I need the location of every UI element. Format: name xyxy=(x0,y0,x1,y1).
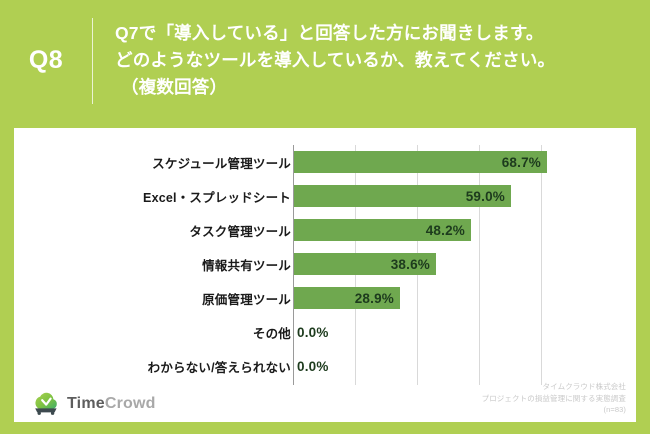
bar-value-4: 28.9% xyxy=(355,291,394,306)
bar-container: 0.0% xyxy=(294,355,329,377)
question-text: Q7で「導入している」と回答した方にお聞きします。 どのようなツールを導入してい… xyxy=(93,20,555,101)
bar-rows: スケジュール管理ツール 68.7% Excel・スプレッドシート 59.0% タ… xyxy=(14,128,636,422)
credit-company: タイムクラウド株式会社 xyxy=(482,381,626,393)
table-row: Excel・スプレッドシート 59.0% xyxy=(14,179,636,213)
bar-container: 28.9% xyxy=(294,287,400,309)
chart-card: スケジュール管理ツール 68.7% Excel・スプレッドシート 59.0% タ… xyxy=(14,128,636,422)
bar-value-6: 0.0% xyxy=(297,359,329,374)
logo-wordmark: TimeCrowd xyxy=(67,395,156,413)
table-row: 情報共有ツール 38.6% xyxy=(14,247,636,281)
logo-word-crowd: Crowd xyxy=(105,395,156,412)
bar-value-3: 38.6% xyxy=(391,257,430,272)
bar-container: 38.6% xyxy=(294,253,436,275)
bar-value-1: 59.0% xyxy=(466,189,505,204)
bar-container: 68.7% xyxy=(294,151,547,173)
credit-survey-name: プロジェクトの損益管理に関する実態調査 xyxy=(482,393,626,405)
category-label: わからない/答えられない xyxy=(148,357,291,376)
survey-credit: タイムクラウド株式会社 プロジェクトの損益管理に関する実態調査 (n=83) xyxy=(482,381,626,416)
category-label: 情報共有ツール xyxy=(202,255,291,274)
table-row: その他 0.0% xyxy=(14,315,636,349)
category-label: スケジュール管理ツール xyxy=(152,153,291,172)
category-label: タスク管理ツール xyxy=(189,221,291,240)
logo-word-time: Time xyxy=(67,395,105,412)
table-row: わからない/答えられない 0.0% xyxy=(14,349,636,383)
question-header: Q8 Q7で「導入している」と回答した方にお聞きします。 どのようなツールを導入… xyxy=(0,0,650,121)
question-line-2: どのようなツールを導入しているか、教えてください。 xyxy=(115,47,555,74)
question-line-1: Q7で「導入している」と回答した方にお聞きします。 xyxy=(115,20,555,47)
bar-container: 48.2% xyxy=(294,219,471,241)
cloud-clock-icon xyxy=(32,392,60,416)
bar-value-5: 0.0% xyxy=(297,325,329,340)
category-label: 原価管理ツール xyxy=(202,289,291,308)
bar-value-0: 68.7% xyxy=(502,155,541,170)
bar-container: 0.0% xyxy=(294,321,329,343)
table-row: 原価管理ツール 28.9% xyxy=(14,281,636,315)
bar-value-2: 48.2% xyxy=(426,223,465,238)
credit-sample-size: (n=83) xyxy=(482,404,626,416)
table-row: スケジュール管理ツール 68.7% xyxy=(14,145,636,179)
bar-container: 59.0% xyxy=(294,185,511,207)
category-label: その他 xyxy=(253,323,291,342)
question-number: Q8 xyxy=(0,46,92,75)
category-label: Excel・スプレッドシート xyxy=(143,187,291,206)
bar-chart: スケジュール管理ツール 68.7% Excel・スプレッドシート 59.0% タ… xyxy=(14,128,636,422)
question-line-3: （複数回答） xyxy=(115,74,555,101)
timecrowd-logo: TimeCrowd xyxy=(32,392,156,416)
table-row: タスク管理ツール 48.2% xyxy=(14,213,636,247)
